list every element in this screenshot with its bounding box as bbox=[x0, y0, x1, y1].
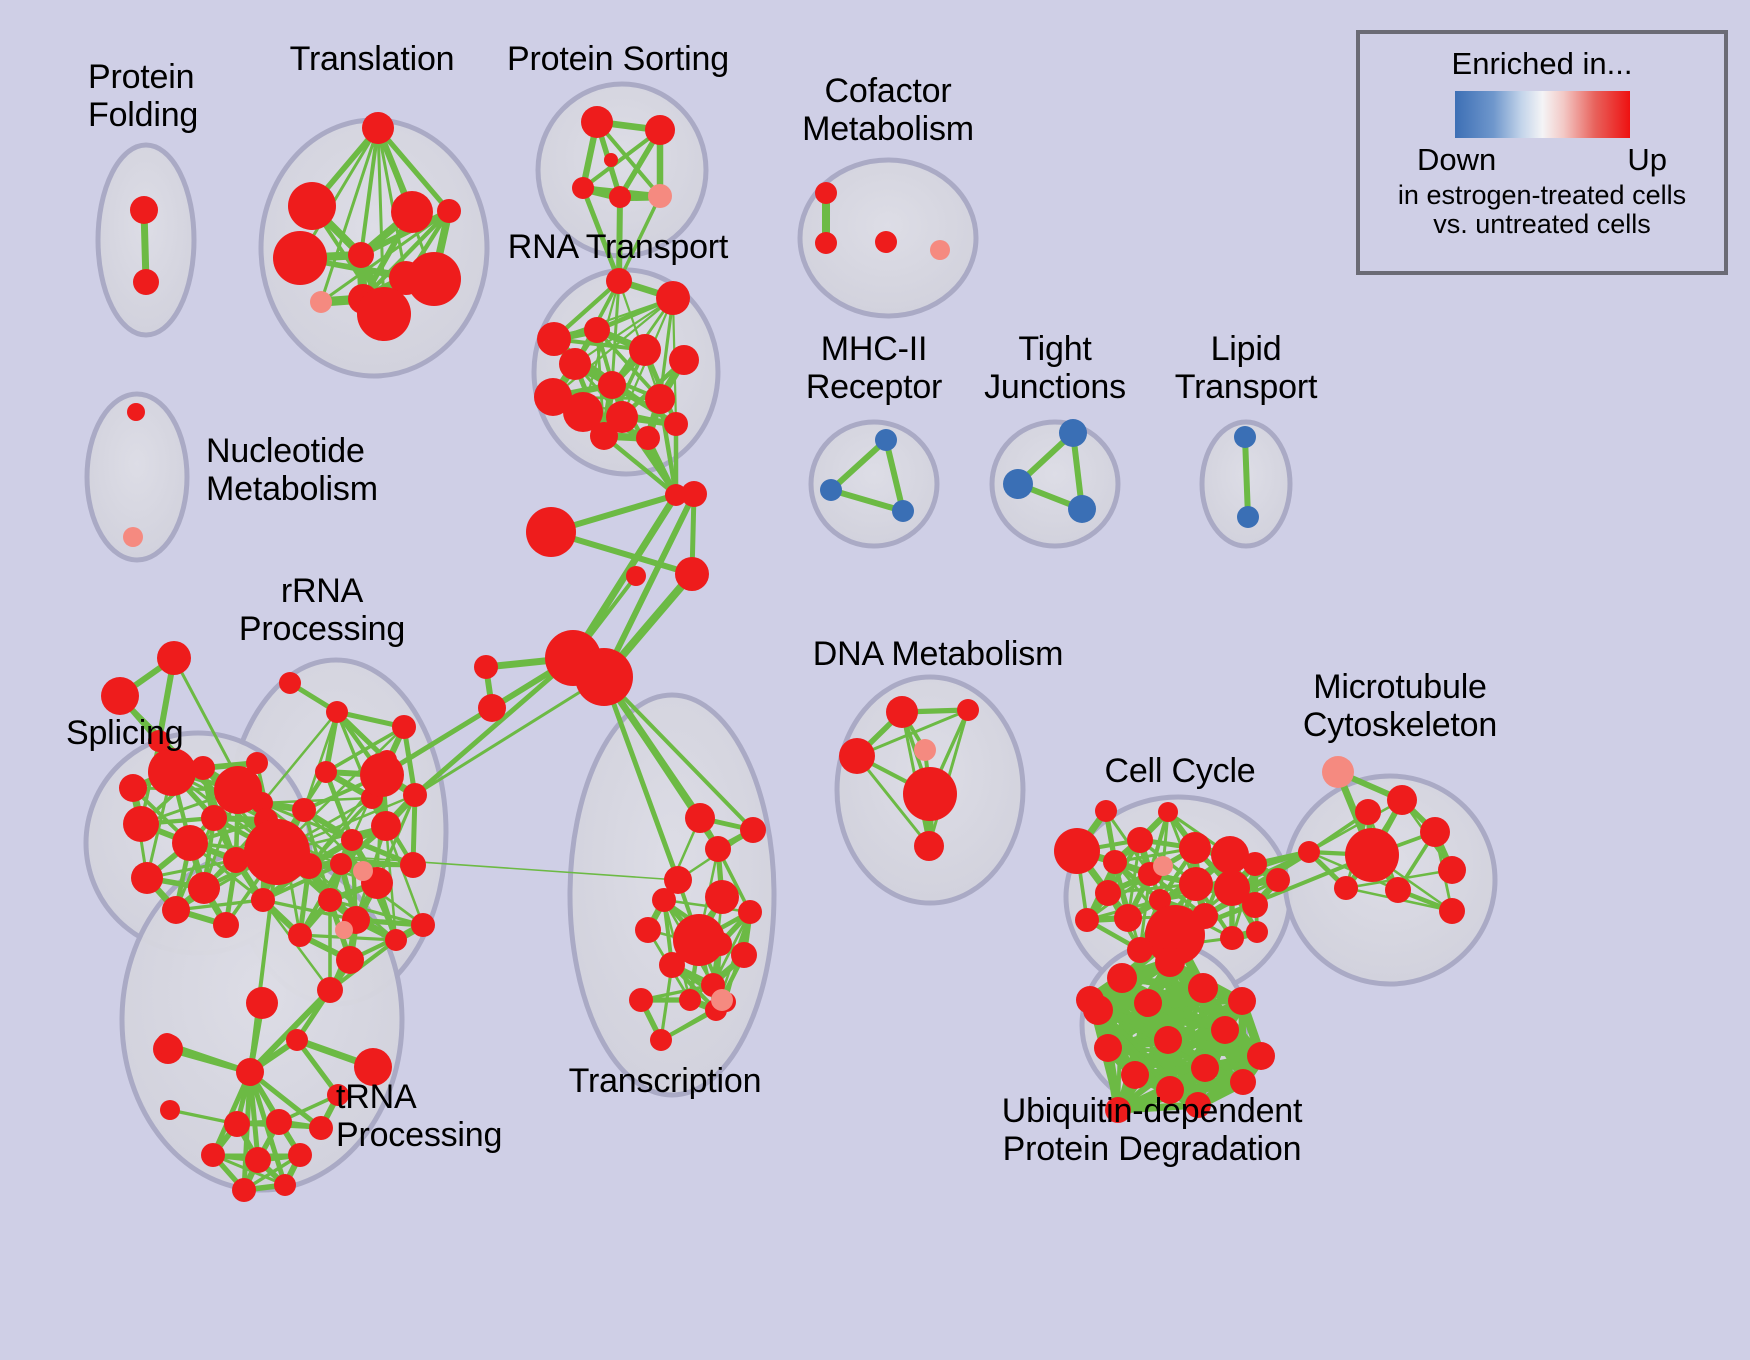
network-node bbox=[645, 384, 675, 414]
network-node bbox=[407, 252, 461, 306]
network-node bbox=[148, 748, 196, 796]
network-node bbox=[930, 240, 950, 260]
network-node bbox=[130, 196, 158, 224]
network-node bbox=[914, 739, 936, 761]
network-node bbox=[188, 872, 220, 904]
network-node bbox=[362, 112, 394, 144]
network-node bbox=[392, 715, 416, 739]
network-node bbox=[606, 268, 632, 294]
cluster-label-microtubule-cytoskeleton: Microtubule Cytoskeleton bbox=[1303, 668, 1497, 744]
network-node bbox=[292, 798, 316, 822]
network-node bbox=[669, 345, 699, 375]
network-node bbox=[360, 753, 404, 797]
network-node bbox=[245, 1147, 271, 1173]
network-node bbox=[839, 738, 875, 774]
network-node bbox=[348, 242, 374, 268]
legend-subtitle-2: vs. untreated cells bbox=[1433, 209, 1651, 240]
cluster-label-ubiquitin-protein-degradation: Ubiquitin-dependent Protein Degradation bbox=[1002, 1092, 1303, 1168]
network-node bbox=[1242, 892, 1268, 918]
network-node bbox=[1387, 785, 1417, 815]
network-node bbox=[604, 153, 618, 167]
network-node bbox=[123, 527, 143, 547]
network-node bbox=[330, 853, 352, 875]
network-node bbox=[740, 817, 766, 843]
network-node bbox=[1179, 867, 1213, 901]
network-node bbox=[1247, 1042, 1275, 1070]
network-node bbox=[1095, 800, 1117, 822]
network-node bbox=[1127, 827, 1153, 853]
network-node bbox=[1127, 937, 1153, 963]
network-node bbox=[309, 1116, 333, 1140]
network-node bbox=[705, 880, 739, 914]
network-node bbox=[711, 989, 733, 1011]
network-node bbox=[626, 566, 646, 586]
network-node bbox=[1191, 1054, 1219, 1082]
network-node bbox=[1095, 880, 1121, 906]
network-node bbox=[1003, 469, 1033, 499]
network-node bbox=[119, 774, 147, 802]
network-node bbox=[286, 1029, 308, 1051]
network-node bbox=[317, 977, 343, 1003]
network-node bbox=[318, 888, 342, 912]
network-node bbox=[162, 896, 190, 924]
network-node bbox=[820, 479, 842, 501]
network-node bbox=[191, 756, 215, 780]
cluster-label-lipid-transport: Lipid Transport bbox=[1175, 330, 1317, 406]
network-node bbox=[131, 862, 163, 894]
network-node bbox=[288, 182, 336, 230]
network-node bbox=[1322, 756, 1354, 788]
network-node bbox=[1076, 986, 1104, 1014]
legend-subtitle-1: in estrogen-treated cells bbox=[1398, 180, 1686, 211]
network-node bbox=[629, 988, 653, 1012]
network-node bbox=[665, 484, 687, 506]
network-edge bbox=[1090, 1000, 1242, 1001]
network-node bbox=[326, 701, 348, 723]
network-node bbox=[1068, 495, 1096, 523]
network-node bbox=[1179, 832, 1211, 864]
network-node bbox=[1114, 904, 1142, 932]
network-node bbox=[1075, 908, 1099, 932]
network-node bbox=[598, 371, 626, 399]
legend-up-label: Up bbox=[1627, 142, 1667, 178]
network-node bbox=[526, 507, 576, 557]
network-node bbox=[1155, 947, 1185, 977]
network-node bbox=[341, 829, 363, 851]
network-node bbox=[675, 557, 709, 591]
network-node bbox=[127, 403, 145, 421]
network-node bbox=[886, 696, 918, 728]
cluster-label-dna-metabolism: DNA Metabolism bbox=[813, 635, 1063, 673]
network-nodes bbox=[101, 106, 1466, 1202]
network-node bbox=[273, 231, 327, 285]
network-node bbox=[156, 1033, 178, 1055]
cluster-label-rrna-processing: rRNA Processing bbox=[239, 572, 405, 648]
network-node bbox=[236, 1058, 264, 1086]
network-node bbox=[160, 1100, 180, 1120]
network-node bbox=[391, 191, 433, 233]
network-node bbox=[371, 811, 401, 841]
network-node bbox=[353, 861, 373, 881]
network-node bbox=[1153, 856, 1173, 876]
network-node bbox=[246, 987, 278, 1019]
network-node bbox=[478, 694, 506, 722]
network-node bbox=[172, 825, 208, 861]
network-node bbox=[903, 767, 957, 821]
network-node bbox=[815, 232, 837, 254]
network-node bbox=[738, 900, 762, 924]
network-node bbox=[650, 1029, 672, 1051]
cluster-label-mhc-ii-receptor: MHC-II Receptor bbox=[806, 330, 942, 406]
network-node bbox=[411, 913, 435, 937]
network-node bbox=[1134, 989, 1162, 1017]
network-node bbox=[288, 923, 312, 947]
network-node bbox=[1266, 868, 1290, 892]
cluster-label-cell-cycle: Cell Cycle bbox=[1104, 752, 1255, 790]
network-node bbox=[575, 648, 633, 706]
cluster-label-transcription: Transcription bbox=[569, 1062, 762, 1100]
cluster-label-protein-sorting: Protein Sorting bbox=[507, 40, 729, 78]
network-node bbox=[336, 946, 364, 974]
network-node bbox=[310, 291, 332, 313]
network-node bbox=[1094, 1034, 1122, 1062]
network-node bbox=[1334, 876, 1358, 900]
cluster-label-rna-transport: RNA Transport bbox=[508, 228, 728, 266]
cluster-label-splicing: Splicing bbox=[66, 714, 183, 752]
network-node bbox=[474, 655, 498, 679]
network-node bbox=[1438, 856, 1466, 884]
network-node bbox=[315, 761, 337, 783]
network-node bbox=[679, 989, 701, 1011]
network-node bbox=[636, 426, 660, 450]
network-node bbox=[664, 412, 688, 436]
network-figure: Protein FoldingTranslationProtein Sortin… bbox=[0, 0, 1750, 1360]
network-node bbox=[133, 269, 159, 295]
network-node bbox=[1355, 799, 1381, 825]
network-node bbox=[875, 231, 897, 253]
network-node bbox=[1243, 852, 1267, 876]
network-node bbox=[400, 852, 426, 878]
network-node bbox=[244, 819, 310, 885]
network-node bbox=[1246, 921, 1268, 943]
network-node bbox=[385, 929, 407, 951]
network-node bbox=[590, 422, 618, 450]
network-edge bbox=[415, 658, 573, 795]
cluster-label-tight-junctions: Tight Junctions bbox=[984, 330, 1126, 406]
network-node bbox=[213, 912, 239, 938]
network-node bbox=[232, 1178, 256, 1202]
network-node bbox=[101, 677, 139, 715]
network-node bbox=[279, 672, 301, 694]
cluster-label-cofactor-metabolism: Cofactor Metabolism bbox=[802, 72, 974, 148]
network-node bbox=[1439, 898, 1465, 924]
network-node bbox=[957, 699, 979, 721]
network-node bbox=[1298, 841, 1320, 863]
network-node bbox=[1420, 817, 1450, 847]
network-node bbox=[274, 1174, 296, 1196]
network-node bbox=[685, 803, 715, 833]
network-node bbox=[266, 1109, 292, 1135]
network-node bbox=[123, 806, 159, 842]
network-node bbox=[288, 1143, 312, 1167]
network-node bbox=[1188, 973, 1218, 1003]
network-node bbox=[251, 889, 273, 911]
network-node bbox=[645, 115, 675, 145]
network-node bbox=[559, 348, 591, 380]
network-node bbox=[1054, 828, 1100, 874]
network-node bbox=[246, 752, 268, 774]
network-node bbox=[572, 177, 594, 199]
network-node bbox=[892, 500, 914, 522]
cluster-label-trna-processing: tRNA Processing bbox=[336, 1078, 502, 1154]
network-node bbox=[648, 184, 672, 208]
network-node bbox=[635, 917, 661, 943]
network-node bbox=[1385, 877, 1411, 903]
network-node bbox=[652, 888, 676, 912]
network-node bbox=[1345, 828, 1399, 882]
network-node bbox=[914, 831, 944, 861]
color-scale-bar bbox=[1455, 91, 1630, 138]
network-node bbox=[584, 317, 610, 343]
network-node bbox=[1154, 1026, 1182, 1054]
cluster-label-translation: Translation bbox=[290, 40, 455, 78]
network-node bbox=[1211, 1016, 1239, 1044]
network-node bbox=[1220, 926, 1244, 950]
network-node bbox=[609, 186, 631, 208]
network-node bbox=[224, 1111, 250, 1137]
legend-box: Enriched in... Down Up in estrogen-treat… bbox=[1356, 30, 1728, 275]
network-node bbox=[335, 921, 353, 939]
cluster-label-nucleotide-metabolism: Nucleotide Metabolism bbox=[206, 432, 378, 508]
network-node bbox=[201, 805, 227, 831]
network-node bbox=[659, 952, 685, 978]
network-node bbox=[705, 836, 731, 862]
network-node bbox=[1059, 419, 1087, 447]
cluster-label-protein-folding: Protein Folding bbox=[88, 58, 198, 134]
network-node bbox=[1234, 426, 1256, 448]
network-node bbox=[1211, 836, 1249, 874]
network-node bbox=[437, 199, 461, 223]
network-node bbox=[201, 1143, 225, 1167]
network-node bbox=[1228, 987, 1256, 1015]
network-node bbox=[629, 334, 661, 366]
network-edge bbox=[1245, 437, 1248, 517]
network-node bbox=[731, 942, 757, 968]
legend-down-label: Down bbox=[1417, 142, 1496, 178]
network-node bbox=[1103, 850, 1127, 874]
network-node bbox=[656, 281, 690, 315]
network-node bbox=[403, 783, 427, 807]
network-node bbox=[1158, 802, 1178, 822]
network-node bbox=[1237, 506, 1259, 528]
network-node bbox=[875, 429, 897, 451]
network-node bbox=[357, 287, 411, 341]
network-node bbox=[157, 641, 191, 675]
network-node bbox=[1121, 1061, 1149, 1089]
network-node bbox=[1107, 963, 1137, 993]
legend-title: Enriched in... bbox=[1452, 46, 1633, 82]
network-node bbox=[815, 182, 837, 204]
network-node bbox=[581, 106, 613, 138]
